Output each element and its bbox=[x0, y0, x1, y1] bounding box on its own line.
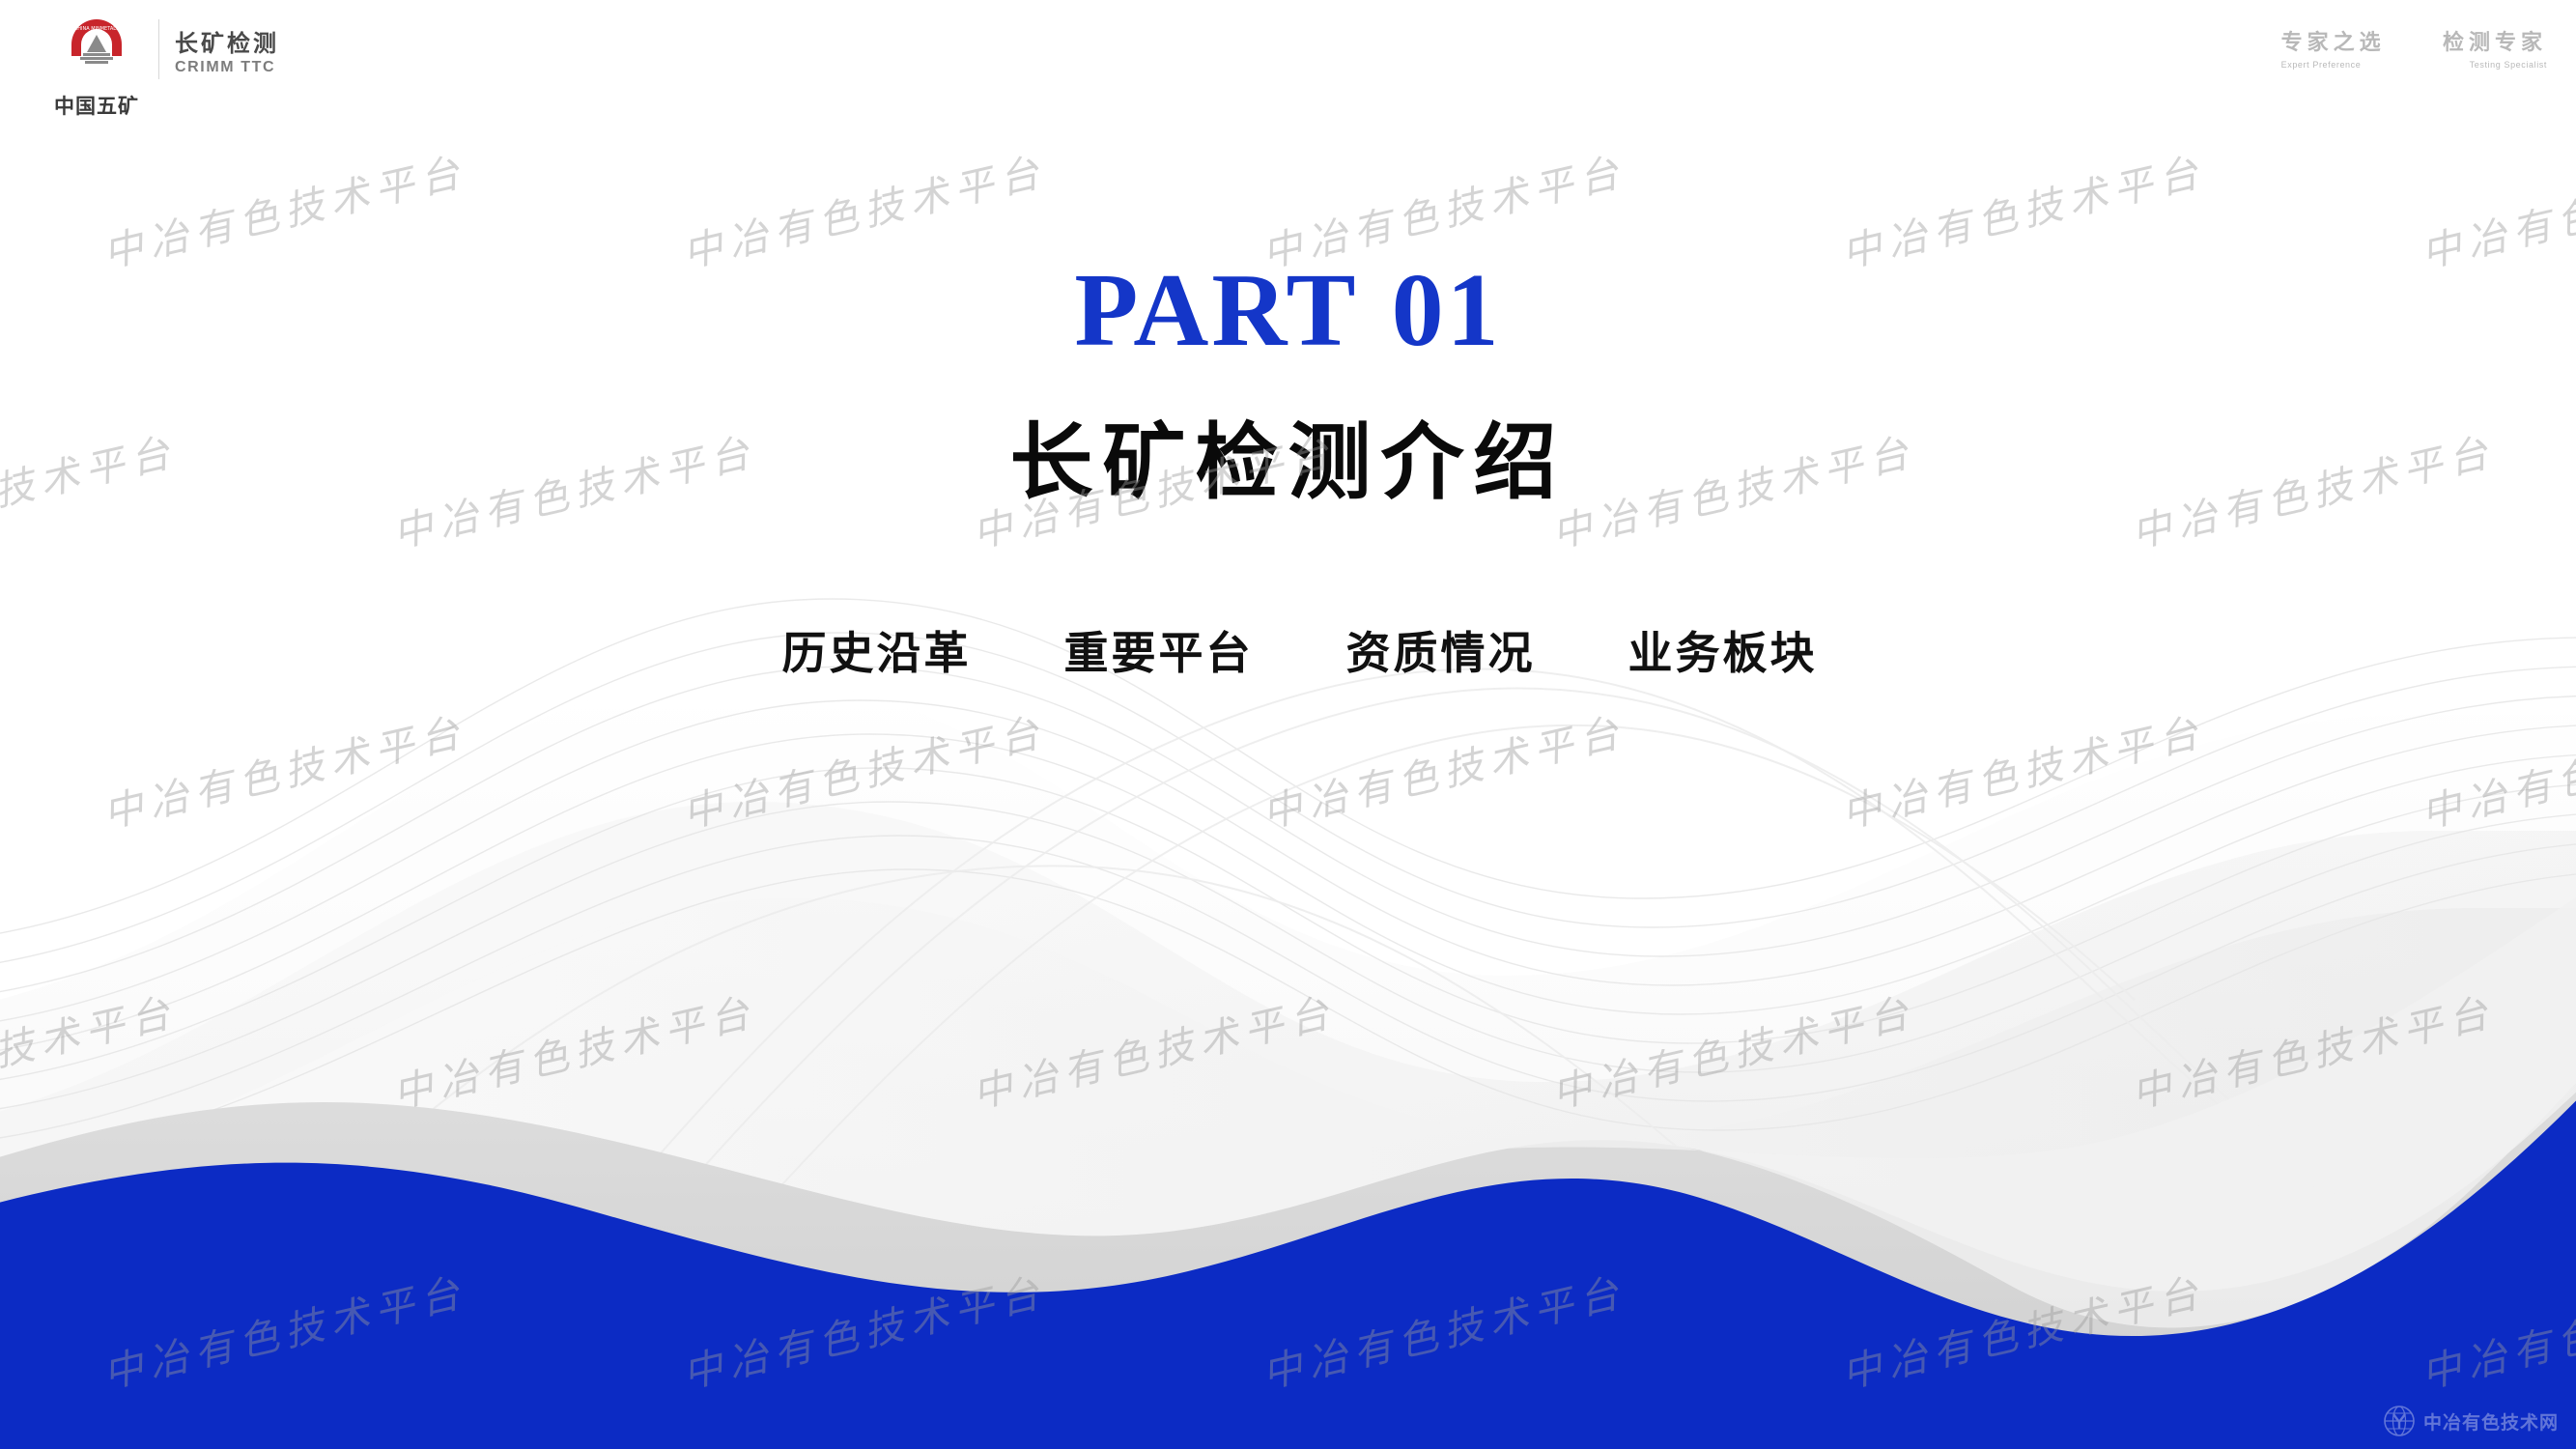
watermark-text: 中冶有色技术平台 bbox=[1835, 699, 2210, 839]
tagline-cn-left: 专家之选 bbox=[2281, 30, 2386, 55]
watermark-text: 中冶有色技术平台 bbox=[97, 699, 471, 839]
gray-wave-band bbox=[0, 1053, 2576, 1449]
header-brand-logo: CHINA MINMETALS 中国五矿 长矿检测 CRIMM TTC bbox=[50, 14, 279, 117]
watermark-text: 中冶有色技术平台 bbox=[386, 980, 761, 1120]
watermark-text: 中冶有色技术平台 bbox=[966, 980, 1341, 1120]
logo-unit-name-cn: 长矿检测 bbox=[175, 31, 279, 56]
blue-wave-band bbox=[0, 1058, 2576, 1449]
topic-item-history[interactable]: 历史沿革 bbox=[782, 618, 972, 682]
topic-list: 历史沿革 重要平台 资质情况 业务板块 bbox=[0, 618, 2576, 682]
watermark-text: 中冶有色技术平台 bbox=[1545, 980, 1920, 1120]
tagline-cn-right: 检测专家 bbox=[2443, 30, 2547, 55]
watermark-text: 中冶有色技术平台 bbox=[676, 1260, 1051, 1400]
header-tagline: 专家之选 检测专家 Expert Preference Testing Spec… bbox=[2281, 25, 2547, 70]
zhongye-globe-icon bbox=[2383, 1405, 2416, 1437]
watermark-text: 中冶有色技术平台 bbox=[2125, 980, 2500, 1120]
watermark-text: 中冶有色技术平台 bbox=[2415, 699, 2576, 839]
watermark-text: 中冶有色技术平台 bbox=[2415, 1260, 2576, 1400]
site-name: 中冶有色技术网 bbox=[2423, 1408, 2559, 1435]
watermark-text: 中冶有色技术平台 bbox=[676, 699, 1051, 839]
part-number: 01 bbox=[1392, 253, 1502, 368]
topic-item-qualification[interactable]: 资质情况 bbox=[1346, 618, 1536, 682]
slide-canvas: CHINA MINMETALS 中国五矿 长矿检测 CRIMM TTC 专家之选… bbox=[0, 0, 2576, 1449]
watermark-text: 中冶有色技术平台 bbox=[1256, 699, 1630, 839]
watermark-text: 中冶有色技术平台 bbox=[97, 1260, 471, 1400]
part-word: PART bbox=[1074, 253, 1358, 368]
watermark-text: 中冶有色技术平台 bbox=[1835, 1260, 2210, 1400]
logo-unit-name-en: CRIMM TTC bbox=[175, 59, 279, 76]
svg-text:CHINA MINMETALS: CHINA MINMETALS bbox=[74, 26, 120, 32]
watermark-text: 中冶有色技术平台 bbox=[1256, 1260, 1630, 1400]
site-watermark-logo: 中冶有色技术网 bbox=[2383, 1405, 2559, 1437]
part-label: PART01 bbox=[0, 259, 2576, 363]
logo-divider bbox=[158, 19, 159, 79]
topic-item-platform[interactable]: 重要平台 bbox=[1064, 618, 1254, 682]
tagline-en-left: Expert Preference bbox=[2281, 60, 2362, 70]
logo-company-name: 中国五矿 bbox=[54, 97, 139, 117]
page-title: 长矿检测介绍 bbox=[0, 421, 2576, 504]
watermark-text: 中冶有色技术平台 bbox=[0, 980, 182, 1120]
topic-item-business[interactable]: 业务板块 bbox=[1628, 618, 1818, 682]
slide-content: PART01 长矿检测介绍 历史沿革 重要平台 资质情况 业务板块 bbox=[0, 0, 2576, 682]
tagline-en-right: Testing Specialist bbox=[2470, 60, 2547, 70]
china-minmetals-logo-icon: CHINA MINMETALS bbox=[50, 14, 143, 95]
